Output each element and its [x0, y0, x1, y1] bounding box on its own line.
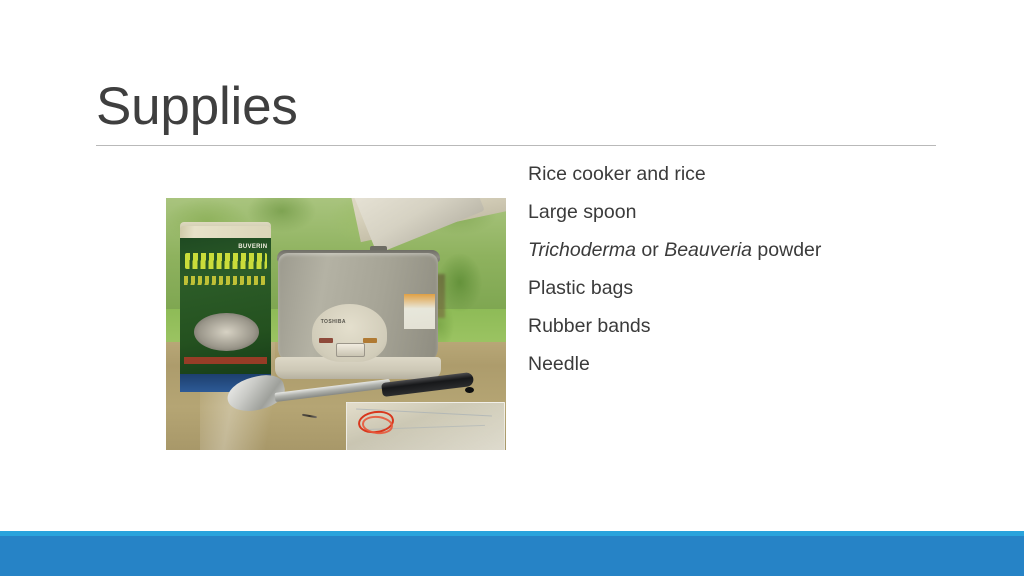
- supply-text: Needle: [528, 353, 590, 375]
- page-title: Supplies: [96, 76, 298, 138]
- powder-canister-label: BUVERIN: [180, 238, 272, 374]
- supplies-list: Rice cooker and riceLarge spoonTrichoder…: [528, 155, 928, 383]
- powder-canister-thai-subtext: [184, 276, 268, 285]
- supply-list-item: Large spoon: [528, 193, 928, 231]
- supplies-photo: TOSHIBA BUVERIN: [166, 198, 506, 450]
- rice-cooker-sticker: [404, 294, 435, 329]
- footer-bar: [0, 536, 1024, 576]
- powder-canister-inset-photo: [194, 313, 258, 351]
- rice-cooker-indicator-warm: [363, 338, 377, 344]
- title-divider: [96, 145, 936, 146]
- rice-cooker-latch: [336, 343, 365, 358]
- supply-text: Large spoon: [528, 201, 636, 223]
- supply-text: Rubber bands: [528, 315, 651, 337]
- supply-list-item: Rice cooker and rice: [528, 155, 928, 193]
- photo-scene: TOSHIBA BUVERIN: [166, 198, 506, 450]
- supply-text: Rice cooker and rice: [528, 163, 706, 185]
- species-name: Trichoderma: [528, 239, 636, 261]
- powder-canister-thai-text: [185, 253, 268, 269]
- supply-text: Plastic bags: [528, 277, 633, 299]
- rice-cooker-brand-label: TOSHIBA: [321, 319, 346, 325]
- supply-list-item: Trichoderma or Beauveria powder: [528, 231, 928, 269]
- supply-text: or: [636, 239, 664, 261]
- supply-text: powder: [752, 239, 821, 261]
- supply-list-item: Needle: [528, 345, 928, 383]
- slide-canvas: Supplies TOSHIBA BUVERIN: [0, 0, 1024, 576]
- spoon-grip-hole: [465, 387, 474, 393]
- species-name: Beauveria: [664, 239, 752, 261]
- powder-canister-red-strip: [184, 357, 268, 364]
- supply-list-item: Plastic bags: [528, 269, 928, 307]
- supply-list-item: Rubber bands: [528, 307, 928, 345]
- rice-cooker-indicator-cook: [319, 338, 333, 344]
- powder-canister-brand-text: BUVERIN: [238, 244, 267, 250]
